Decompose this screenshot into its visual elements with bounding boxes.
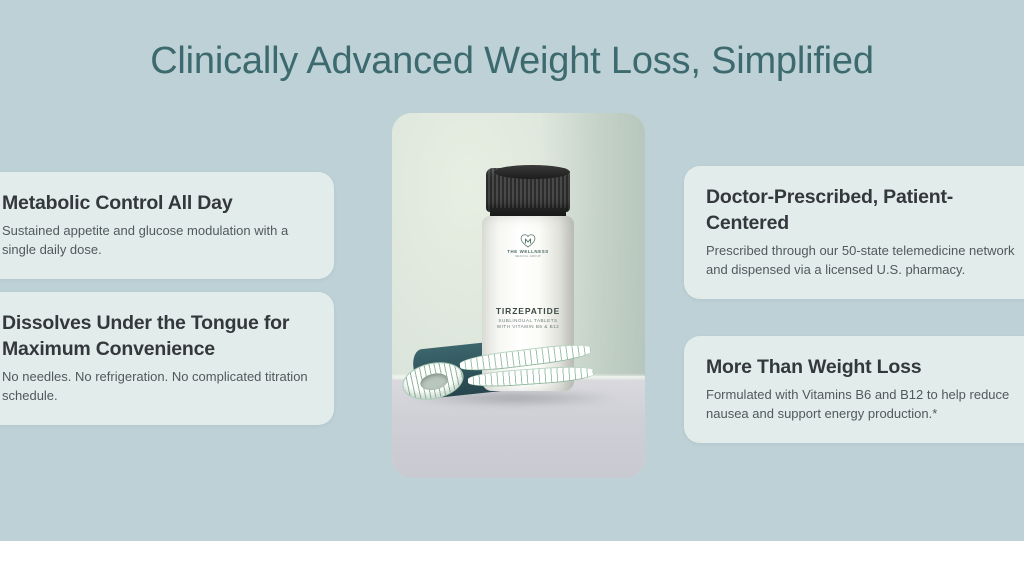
feature-card-title: Dissolves Under the Tongue for Maximum C… [2, 310, 312, 362]
bottle-cap [486, 168, 570, 212]
feature-card-body: Formulated with Vitamins B6 and B12 to h… [706, 385, 1022, 423]
bottle-label-drug-name: TIRZEPATIDE [482, 306, 574, 316]
wellness-monogram-icon [520, 234, 536, 248]
feature-card-more-than-weight-loss: More Than Weight Loss Formulated with Vi… [684, 336, 1024, 443]
bottle-label-brand-subtitle: MEDICAL GROUP [482, 255, 574, 258]
feature-card-title: Metabolic Control All Day [2, 190, 312, 216]
feature-card-metabolic-control: Metabolic Control All Day Sustained appe… [0, 172, 334, 279]
bottle-label-form-line-2: WITH VITAMIN B6 & B12 [482, 324, 574, 330]
bottle-label-form: SUBLINGUAL TABLETS WITH VITAMIN B6 & B12 [482, 318, 574, 331]
feature-card-body: No needles. No refrigeration. No complic… [2, 367, 312, 405]
feature-card-title: Doctor-Prescribed, Patient-Centered [706, 184, 1022, 236]
feature-card-dissolves-under-tongue: Dissolves Under the Tongue for Maximum C… [0, 292, 334, 425]
bottle-label-brand: THE WELLNESS [482, 249, 574, 254]
feature-card-body: Sustained appetite and glucose modulatio… [2, 221, 312, 259]
bottom-white-band [0, 541, 1024, 576]
measuring-tape-coil-center [419, 371, 450, 392]
feature-card-title: More Than Weight Loss [706, 354, 1022, 380]
bottle-label-logo: THE WELLNESS MEDICAL GROUP [482, 234, 574, 258]
promo-banner: Clinically Advanced Weight Loss, Simplif… [0, 0, 1024, 576]
product-photo: THE WELLNESS MEDICAL GROUP TIRZEPATIDE S… [392, 113, 645, 478]
feature-card-doctor-prescribed: Doctor-Prescribed, Patient-Centered Pres… [684, 166, 1024, 299]
page-title: Clinically Advanced Weight Loss, Simplif… [0, 36, 1024, 86]
feature-card-body: Prescribed through our 50-state telemedi… [706, 241, 1022, 279]
bottle-cap-top [494, 165, 570, 179]
